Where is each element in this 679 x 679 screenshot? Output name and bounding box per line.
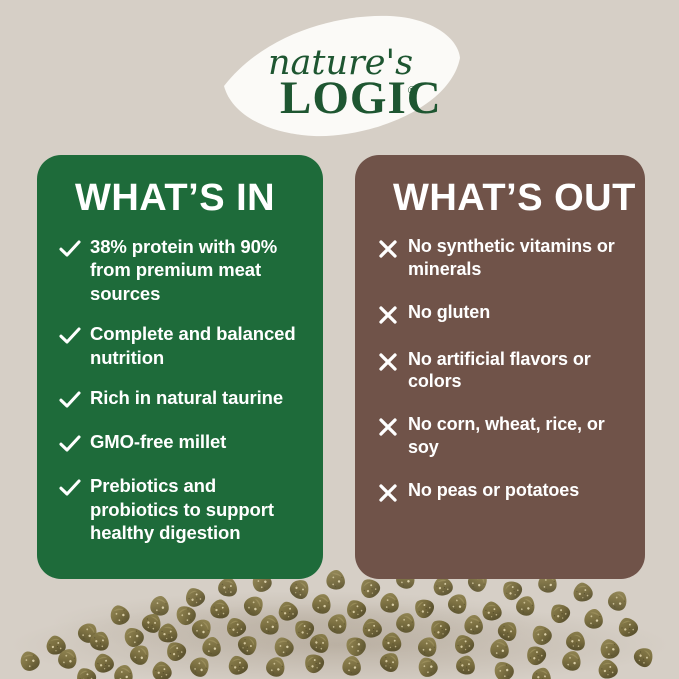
list-item: No peas or potatoes bbox=[375, 479, 627, 506]
whats-out-list: No synthetic vitamins or minerals No glu… bbox=[375, 235, 627, 506]
list-item: No corn, wheat, rice, or soy bbox=[375, 413, 627, 459]
x-icon bbox=[375, 414, 401, 440]
list-item: 38% protein with 90% from premium meat s… bbox=[57, 235, 305, 305]
list-item: No artificial flavors or colors bbox=[375, 348, 627, 394]
list-item-label: GMO-free millet bbox=[90, 430, 226, 453]
whats-in-list: 38% protein with 90% from premium meat s… bbox=[57, 235, 305, 545]
list-item: Complete and balanced nutrition bbox=[57, 322, 305, 369]
list-item-label: 38% protein with 90% from premium meat s… bbox=[90, 235, 305, 305]
brand-logo: nature's LOGIC ® bbox=[222, 12, 462, 140]
list-item: GMO-free millet bbox=[57, 430, 305, 457]
check-icon bbox=[57, 387, 83, 413]
list-item: Prebiotics and probiotics to support hea… bbox=[57, 474, 305, 544]
x-icon bbox=[375, 236, 401, 262]
x-icon bbox=[375, 480, 401, 506]
logo-wordmark-text: LOGIC bbox=[280, 72, 442, 124]
panel-whats-out-title: WHAT’S OUT bbox=[393, 179, 627, 219]
list-item-label: No corn, wheat, rice, or soy bbox=[408, 413, 627, 459]
panel-whats-out: WHAT’S OUT No synthetic vitamins or mine… bbox=[355, 155, 645, 579]
list-item-label: No gluten bbox=[408, 301, 490, 324]
list-item-label: Prebiotics and probiotics to support hea… bbox=[90, 474, 305, 544]
panel-whats-in: WHAT’S IN 38% protein with 90% from prem… bbox=[37, 155, 323, 579]
list-item: No synthetic vitamins or minerals bbox=[375, 235, 627, 281]
list-item-label: No synthetic vitamins or minerals bbox=[408, 235, 627, 281]
check-icon bbox=[57, 323, 83, 349]
list-item-label: Complete and balanced nutrition bbox=[90, 322, 305, 369]
check-icon bbox=[57, 236, 83, 262]
list-item-label: No artificial flavors or colors bbox=[408, 348, 627, 394]
list-item-label: No peas or potatoes bbox=[408, 479, 579, 502]
x-icon bbox=[375, 302, 401, 328]
check-icon bbox=[57, 475, 83, 501]
list-item-label: Rich in natural taurine bbox=[90, 386, 283, 409]
registered-mark: ® bbox=[408, 85, 416, 97]
check-icon bbox=[57, 431, 83, 457]
list-item: Rich in natural taurine bbox=[57, 386, 305, 413]
infographic-canvas: nature's LOGIC ® WHAT’S IN 38% protein w… bbox=[0, 0, 679, 679]
list-item: No gluten bbox=[375, 301, 627, 328]
panel-whats-in-title: WHAT’S IN bbox=[75, 179, 305, 219]
x-icon bbox=[375, 349, 401, 375]
